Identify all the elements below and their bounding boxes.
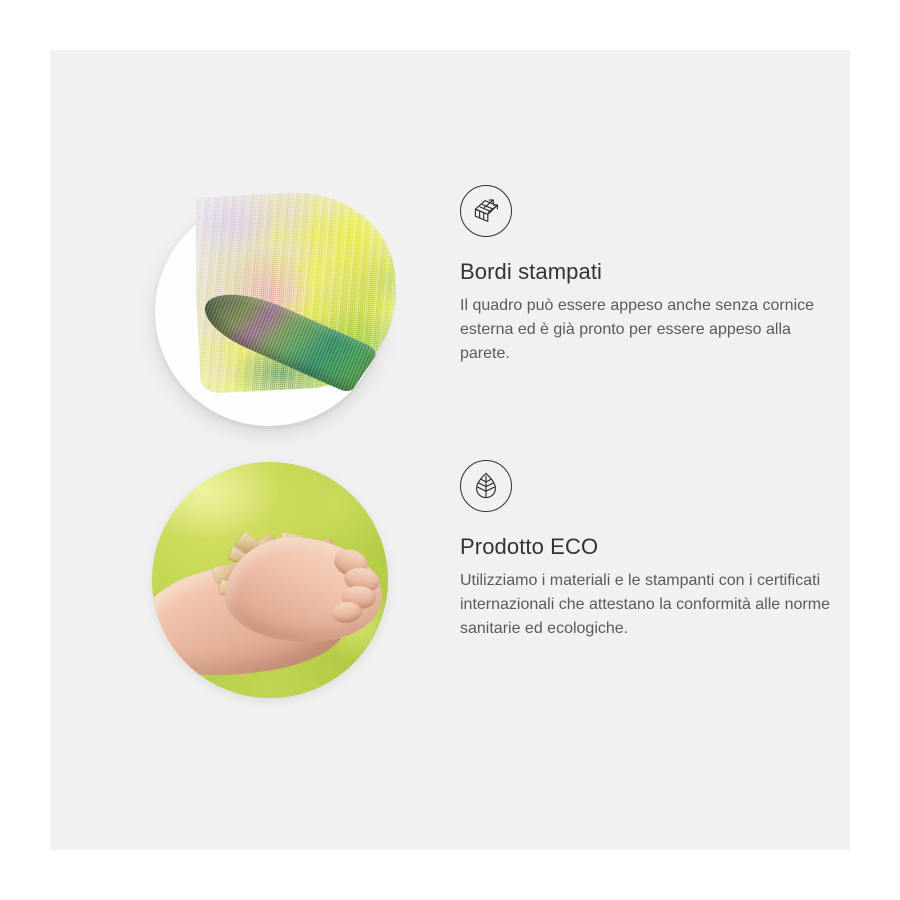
- page-root: Bordi stampati Il quadro può essere appe…: [0, 0, 900, 900]
- printed-edges-text-column: Bordi stampati Il quadro può essere appe…: [460, 185, 830, 366]
- feature-title: Bordi stampati: [460, 259, 830, 285]
- feature-title: Prodotto ECO: [460, 534, 830, 560]
- feature-printed-edges: Bordi stampati Il quadro può essere appe…: [150, 185, 830, 435]
- eco-product-image: [150, 460, 400, 710]
- leaf-icon: [460, 460, 512, 512]
- eco-photo-disc: [152, 462, 388, 698]
- canvas-artwork: [196, 193, 404, 401]
- printed-edges-image: [150, 185, 400, 435]
- eco-product-text-column: Prodotto ECO Utilizziamo i materiali e l…: [460, 460, 830, 641]
- printed-edges-icon: [460, 185, 512, 237]
- feature-description: Il quadro può essere appeso anche senza …: [460, 294, 830, 366]
- feature-description: Utilizziamo i materiali e le stampanti c…: [460, 569, 830, 641]
- content-panel: Bordi stampati Il quadro può essere appe…: [50, 50, 850, 850]
- feature-eco-product: Prodotto ECO Utilizziamo i materiali e l…: [150, 460, 830, 710]
